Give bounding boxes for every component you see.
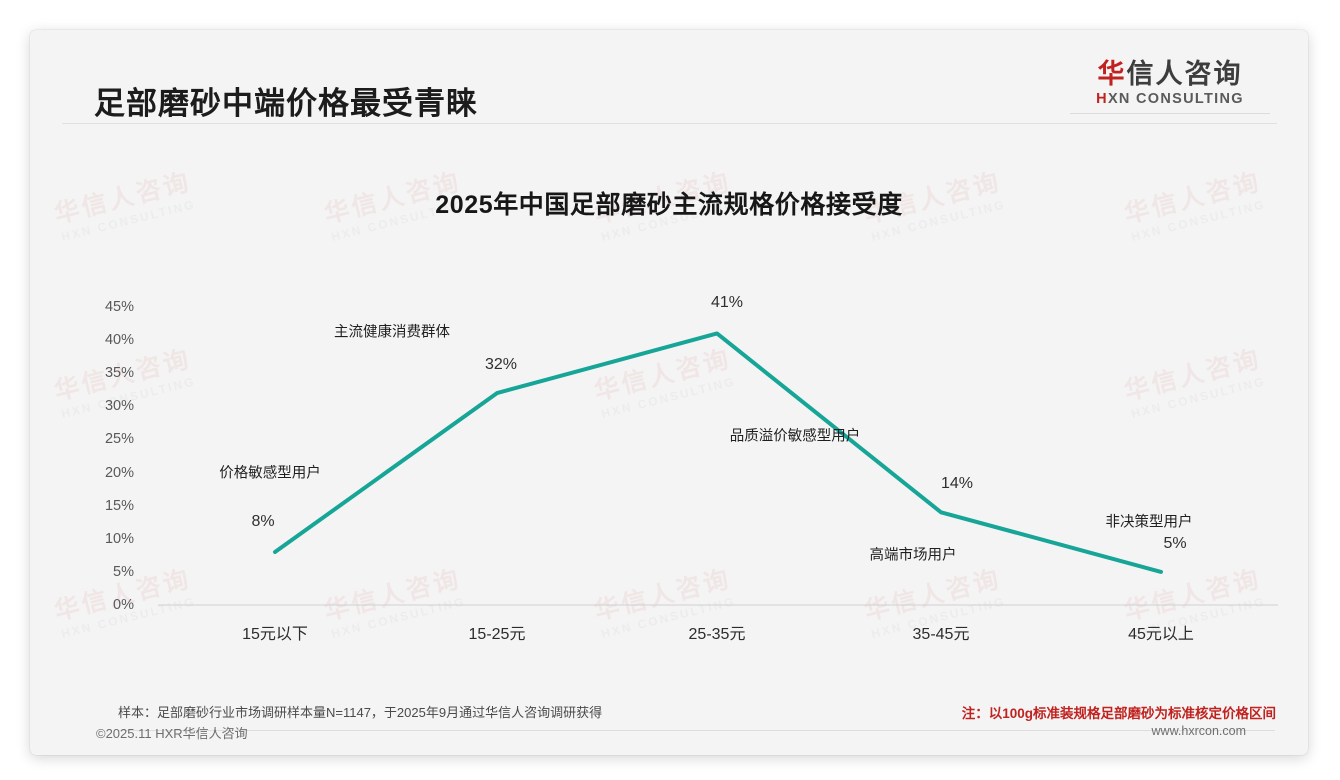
chart-annotation: 主流健康消费群体: [334, 321, 450, 342]
data-point-label: 32%: [485, 356, 517, 374]
copyright-text: ©2025.11 HXR华信人咨询: [96, 723, 248, 742]
data-point-label: 14%: [941, 475, 973, 493]
slide-card: 华信人咨询HXN CONSULTING华信人咨询HXN CONSULTING华信…: [30, 30, 1308, 755]
chart-annotation: 品质溢价敏感型用户: [730, 425, 861, 446]
chart-annotation: 高端市场用户: [870, 544, 957, 565]
website-link[interactable]: www.hxrcon.com: [1152, 724, 1246, 738]
x-axis-tick: 25-35元: [689, 620, 746, 644]
data-series-line: [275, 333, 1161, 571]
chart-annotation: 价格敏感型用户: [219, 462, 321, 483]
chart-area: 45%40%35%30%25%20%15%10%5%0% 15元以下15-25元…: [30, 30, 1308, 670]
data-point-label: 41%: [711, 294, 743, 312]
x-axis-tick: 35-45元: [913, 620, 970, 644]
chart-annotation: 非决策型用户: [1106, 511, 1193, 532]
x-axis-tick: 45元以上: [1128, 620, 1194, 644]
x-axis-tick: 15元以下: [242, 620, 308, 644]
data-point-label: 5%: [1163, 535, 1186, 553]
x-axis-tick: 15-25元: [469, 620, 526, 644]
slide-footer: ©2025.11 HXR华信人咨询 www.hxrcon.com: [30, 713, 1308, 755]
line-plot: [30, 30, 1308, 670]
data-point-label: 8%: [251, 513, 274, 531]
chart-title: 2025年中国足部磨砂主流规格价格接受度: [30, 185, 1308, 221]
